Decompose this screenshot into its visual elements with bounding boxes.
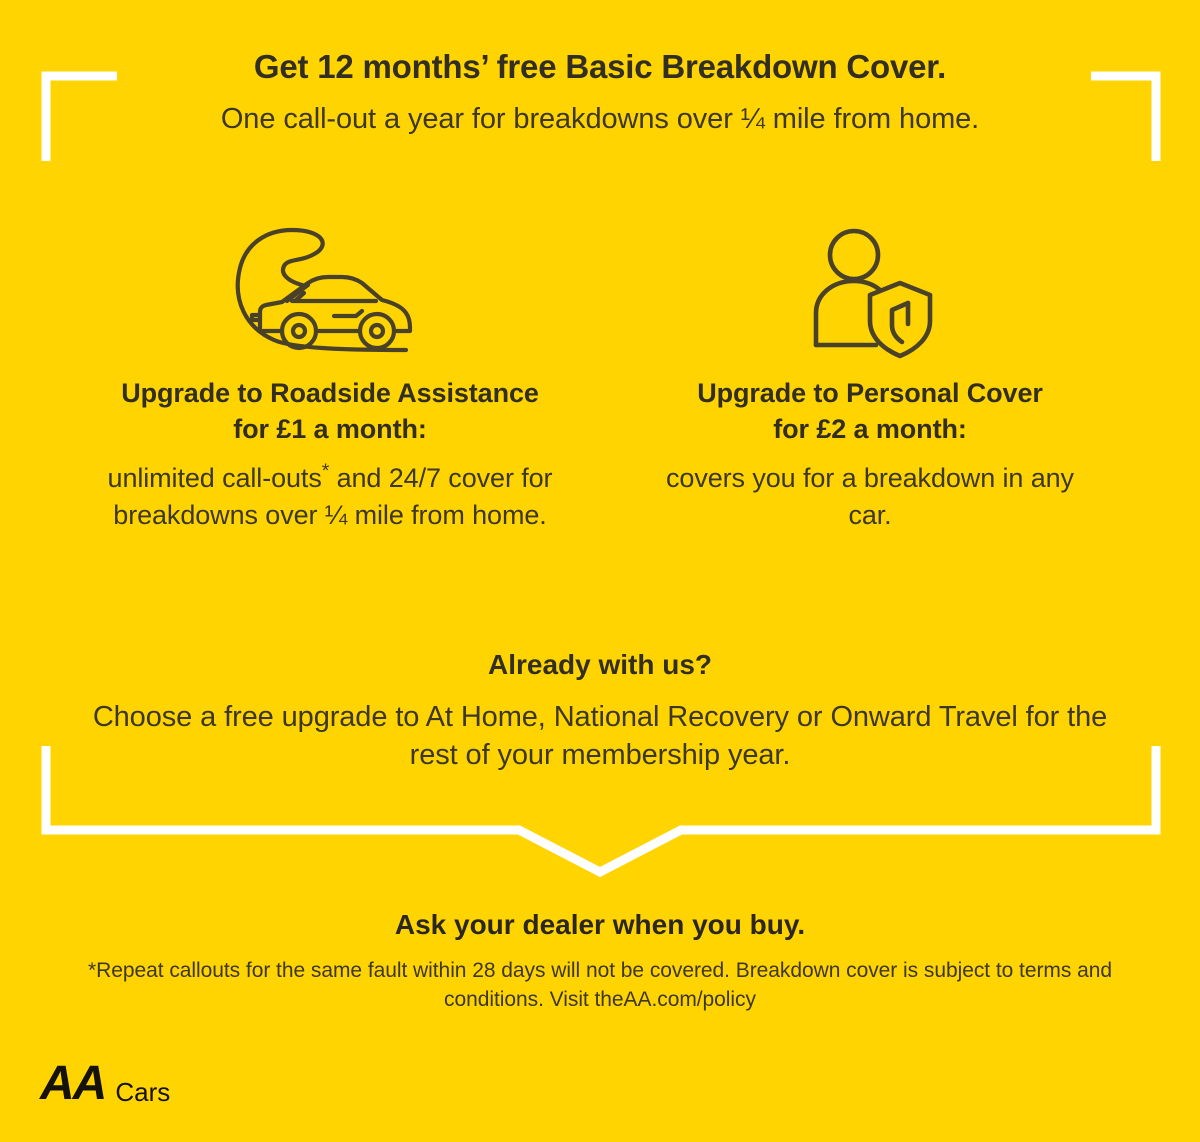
aa-logo-mark: AA	[40, 1060, 105, 1108]
car-breakdown-icon-wrap	[60, 206, 600, 376]
page-title: Get 12 months’ free Basic Breakdown Cove…	[0, 48, 1200, 87]
car-breakdown-icon	[230, 216, 430, 366]
already-member-block: Already with us? Choose a free upgrade t…	[0, 648, 1200, 774]
footer-block: Ask your dealer when you buy. *Repeat ca…	[0, 908, 1200, 1015]
already-member-title: Already with us?	[0, 648, 1200, 682]
benefit-column-personal: Upgrade to Personal Cover for £2 a month…	[600, 206, 1140, 534]
infographic-canvas: Get 12 months’ free Basic Breakdown Cove…	[0, 0, 1200, 1142]
header-block: Get 12 months’ free Basic Breakdown Cove…	[0, 48, 1200, 137]
aa-cars-logo: AA Cars	[40, 1060, 170, 1108]
page-subtitle: One call-out a year for breakdowns over …	[0, 101, 1200, 137]
benefit-body-roadside-part1: unlimited call-outs	[108, 463, 322, 493]
footer-cta-text: Ask your dealer when you buy.	[0, 908, 1200, 942]
benefit-columns: Upgrade to Roadside Assistance for £1 a …	[60, 206, 1140, 534]
benefit-title-personal: Upgrade to Personal Cover for £2 a month…	[690, 376, 1050, 448]
person-shield-icon-wrap	[600, 206, 1140, 376]
benefit-column-roadside: Upgrade to Roadside Assistance for £1 a …	[60, 206, 600, 534]
benefit-body-roadside: unlimited call-outs* and 24/7 cover for …	[90, 460, 570, 535]
already-member-body: Choose a free upgrade to At Home, Nation…	[65, 698, 1135, 775]
benefit-title-roadside: Upgrade to Roadside Assistance for £1 a …	[120, 376, 540, 448]
person-shield-icon	[804, 221, 936, 361]
footer-legal-text: *Repeat callouts for the same fault with…	[85, 956, 1115, 1016]
aa-logo-word: Cars	[115, 1079, 170, 1108]
benefit-body-personal: covers you for a breakdown in any car.	[645, 460, 1095, 535]
